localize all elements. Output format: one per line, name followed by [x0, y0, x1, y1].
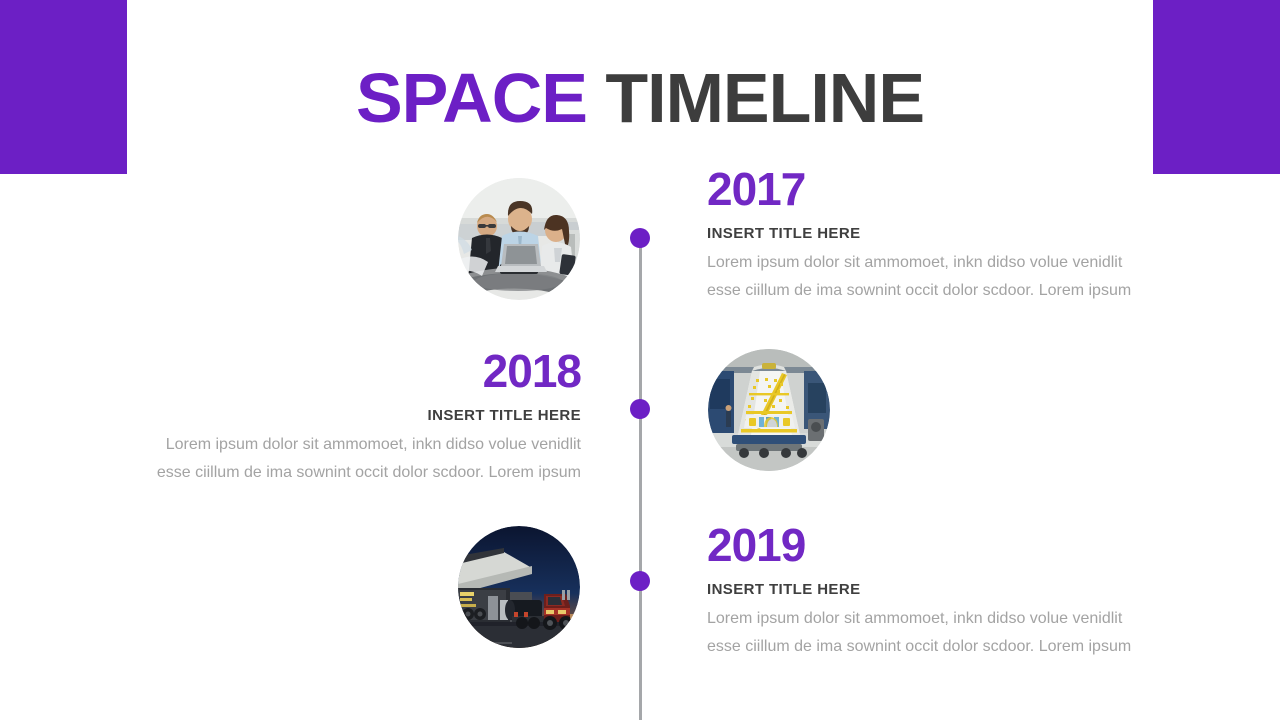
team-reviewing-laptop-photo [458, 178, 580, 300]
timeline-body-line-2: esse ciillum de ima sownint occit dolor … [129, 459, 581, 487]
timeline-year-2017: 2017 [707, 166, 1159, 212]
timeline-entry-2018: 2018 INSERT TITLE HERE Lorem ipsum dolor… [129, 348, 581, 487]
night-transport-truck-photo [458, 526, 580, 648]
timeline-node-2017[interactable] [630, 228, 650, 248]
timeline-entry-2019: 2019 INSERT TITLE HERE Lorem ipsum dolor… [707, 522, 1159, 661]
timeline-body-line-1: Lorem ipsum dolor sit ammomoet, inkn did… [707, 605, 1159, 633]
timeline-subtitle-2017: INSERT TITLE HERE [707, 225, 1159, 242]
timeline-body-line-2: esse ciillum de ima sownint occit dolor … [707, 633, 1159, 661]
space-timeline-slide: SPACE TIMELINE 2017 INSERT TITLE HERE Lo… [0, 0, 1280, 720]
space-capsule-photo [708, 349, 830, 471]
timeline-body-2019: Lorem ipsum dolor sit ammomoet, inkn did… [707, 605, 1159, 661]
timeline-year-2018: 2018 [129, 348, 581, 394]
timeline-subtitle-2018: INSERT TITLE HERE [129, 407, 581, 424]
timeline-body-line-1: Lorem ipsum dolor sit ammomoet, inkn did… [129, 431, 581, 459]
timeline-body-2017: Lorem ipsum dolor sit ammomoet, inkn did… [707, 249, 1159, 305]
timeline-subtitle-2019: INSERT TITLE HERE [707, 581, 1159, 598]
timeline-body-line-1: Lorem ipsum dolor sit ammomoet, inkn did… [707, 249, 1159, 277]
timeline-year-2019: 2019 [707, 522, 1159, 568]
timeline-node-2018[interactable] [630, 399, 650, 419]
timeline-node-2019[interactable] [630, 571, 650, 591]
page-title-space [587, 59, 605, 137]
timeline-spine [639, 238, 642, 720]
timeline-entry-2017: 2017 INSERT TITLE HERE Lorem ipsum dolor… [707, 166, 1159, 305]
timeline-body-line-2: esse ciillum de ima sownint occit dolor … [707, 277, 1159, 305]
page-title-plain-word: TIMELINE [605, 59, 924, 137]
timeline-body-2018: Lorem ipsum dolor sit ammomoet, inkn did… [129, 431, 581, 487]
page-title-accent-word: SPACE [356, 59, 587, 137]
page-title: SPACE TIMELINE [0, 62, 1280, 136]
